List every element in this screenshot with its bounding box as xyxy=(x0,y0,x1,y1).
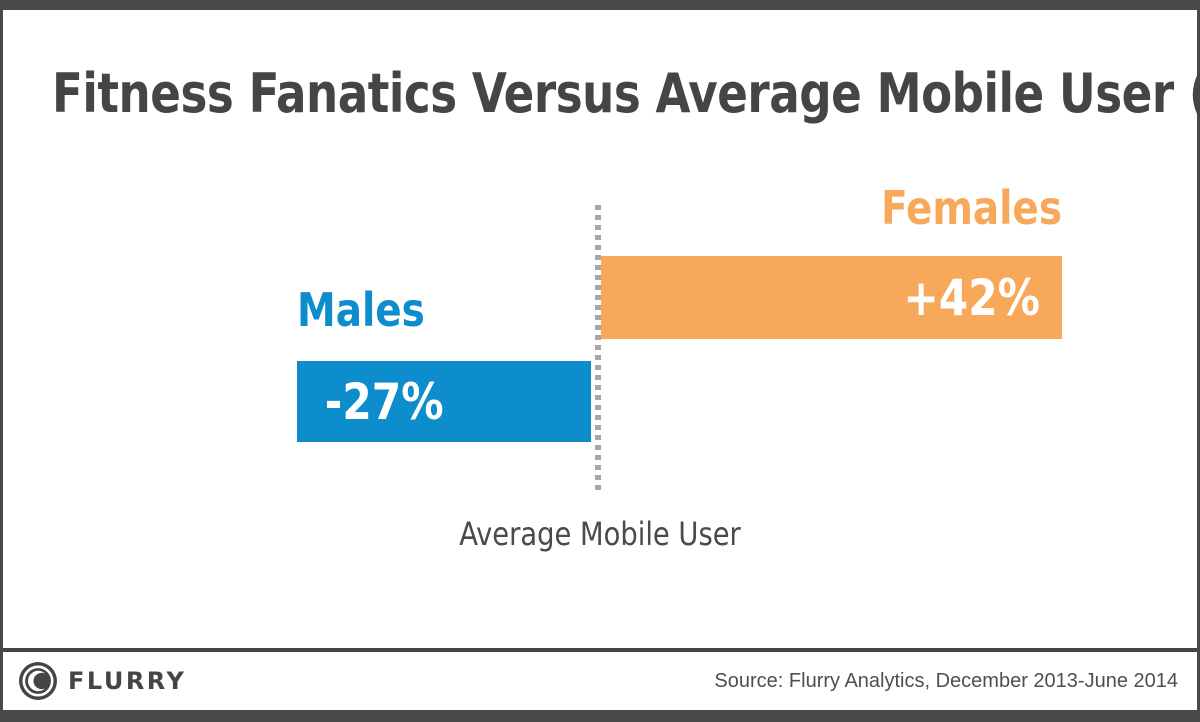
page-title: Fitness Fanatics Versus Average Mobile U… xyxy=(52,62,1084,126)
bar-value-males: -27% xyxy=(325,377,444,427)
frame-bottom-border xyxy=(0,710,1200,722)
footer: FLURRY Source: Flurry Analytics, Decembe… xyxy=(0,652,1200,710)
brand-logo: FLURRY xyxy=(19,662,186,700)
flurry-circle-logo-icon xyxy=(19,662,57,700)
baseline-dotted-axis xyxy=(595,205,601,490)
bar-value-females: +42% xyxy=(903,273,1040,323)
bar-males: -27% xyxy=(297,361,591,442)
series-label-females: Females xyxy=(630,185,1062,231)
slide-root: Fitness Fanatics Versus Average Mobile U… xyxy=(0,0,1200,722)
frame-top-border xyxy=(0,0,1200,10)
bar-females: +42% xyxy=(601,256,1062,339)
baseline-caption: Average Mobile User xyxy=(30,515,1170,553)
source-attribution: Source: Flurry Analytics, December 2013-… xyxy=(714,670,1178,693)
brand-wordmark: FLURRY xyxy=(68,667,186,695)
series-label-males: Males xyxy=(297,287,425,333)
chart-area: Males Females -27% +42% Average Mobile U… xyxy=(0,150,1200,590)
